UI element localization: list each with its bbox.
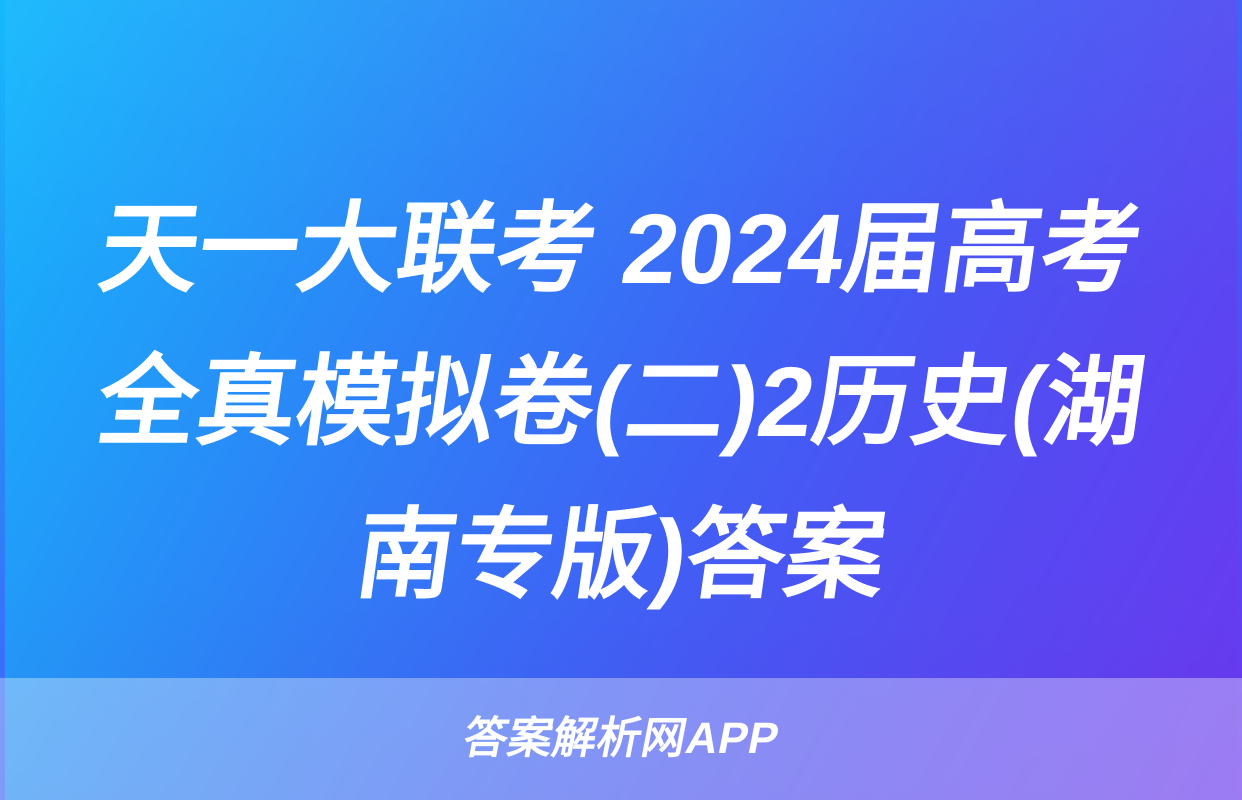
watermark-app-label: 答案解析网APP — [459, 716, 782, 762]
watermark-band: 答案解析网APP — [0, 678, 1242, 800]
title-line-2: 全真模拟卷(二)2历史(湖 — [88, 325, 1154, 478]
page-title: 天一大联考 2024届高考 全真模拟卷(二)2历史(湖 南专版)答案 — [0, 172, 1242, 631]
title-line-1: 天一大联考 2024届高考 — [90, 172, 1151, 325]
title-line-3: 南专版)答案 — [346, 478, 895, 631]
cover-image-canvas: 天一大联考 2024届高考 全真模拟卷(二)2历史(湖 南专版)答案 答案解析网… — [0, 0, 1242, 800]
